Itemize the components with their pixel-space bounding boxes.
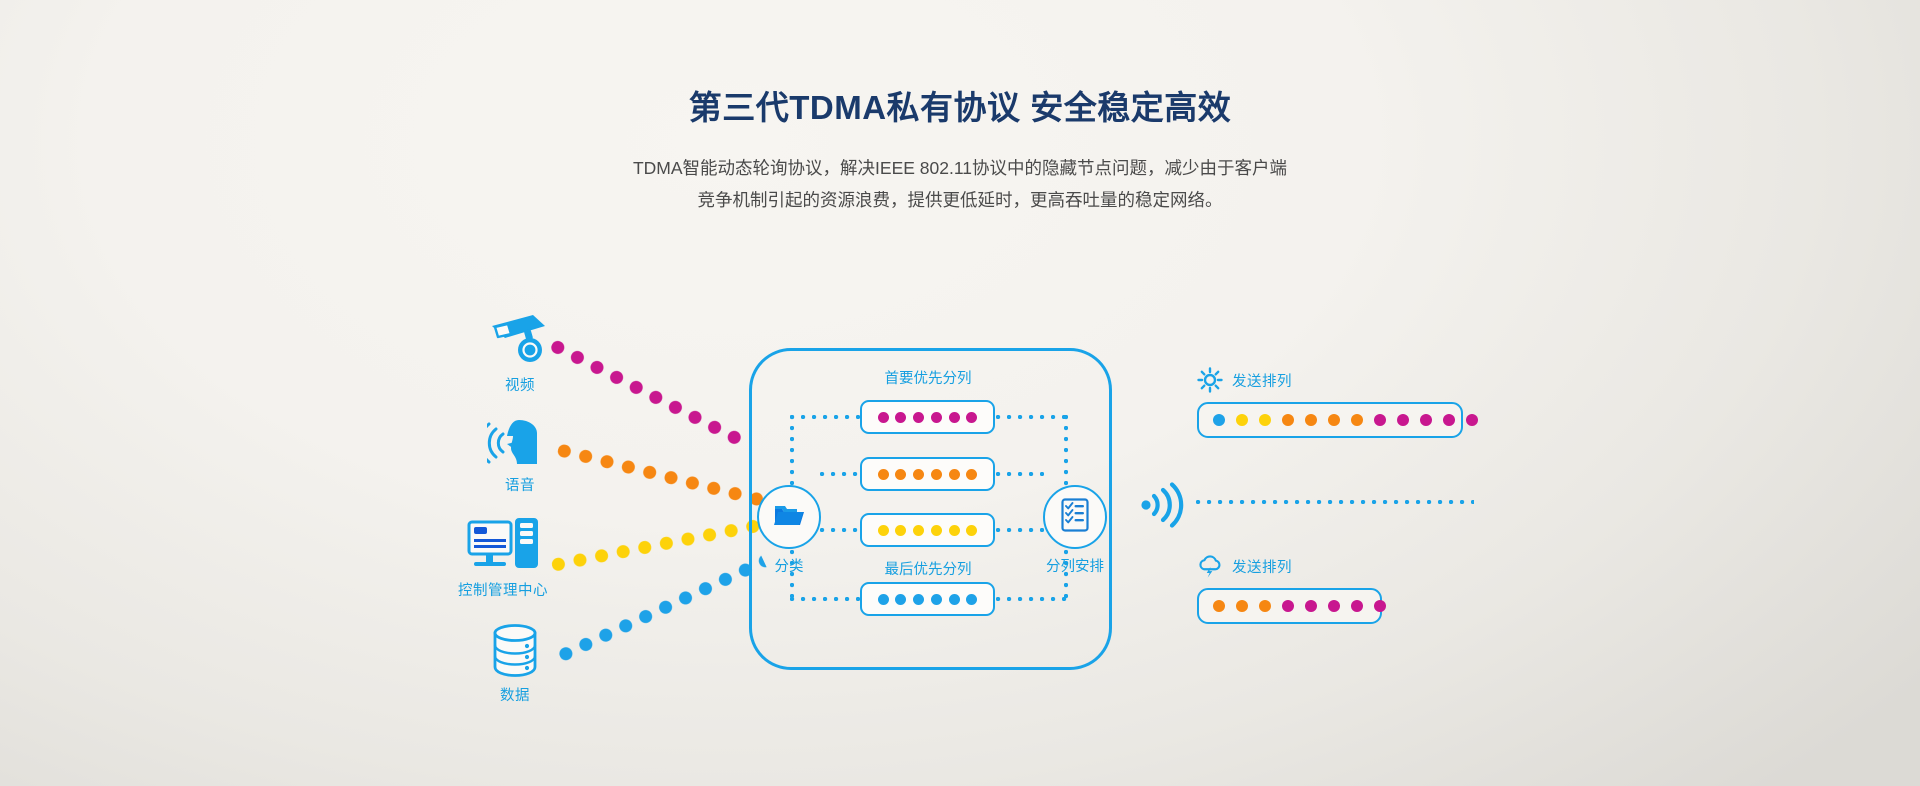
queue-dot	[895, 594, 906, 605]
core-connector-left-top	[790, 415, 860, 419]
core-connector-right-bottom	[996, 597, 1068, 601]
output-dot	[1282, 414, 1294, 426]
core-connector-left-low	[820, 528, 862, 532]
folder-icon	[773, 501, 805, 534]
queue-dot	[949, 525, 960, 536]
queue-dot	[913, 525, 924, 536]
queue-dot	[931, 412, 942, 423]
output-dot	[1259, 600, 1271, 612]
queue-caption-bottom: 最后优先分列	[828, 558, 1028, 579]
queue-dot	[931, 469, 942, 480]
output-dot	[1305, 600, 1317, 612]
queue-dot	[895, 469, 906, 480]
source-video-label: 视频	[445, 374, 595, 395]
database-cylinder-icon	[440, 620, 590, 678]
queue-dot	[913, 412, 924, 423]
output-dot	[1374, 600, 1386, 612]
subtitle-line-1: TDMA智能动态轮询协议，解决IEEE 802.11协议中的隐藏节点问题，减少由…	[0, 152, 1920, 184]
queue-dot	[878, 469, 889, 480]
queue-dot	[966, 594, 977, 605]
core-connector-right-top	[996, 415, 1068, 419]
queue-dot	[966, 469, 977, 480]
source-voice: 语音	[445, 410, 595, 495]
output-dot	[1213, 414, 1225, 426]
wifi-broadcast-icon	[1140, 482, 1186, 528]
output-dot	[1374, 414, 1386, 426]
queue-dot	[895, 525, 906, 536]
output-dot	[1397, 414, 1409, 426]
queue-dot	[878, 525, 889, 536]
classify-label: 分类	[724, 555, 854, 576]
output-dot	[1282, 600, 1294, 612]
voice-speaking-head-icon	[445, 410, 595, 468]
output-dot	[1328, 414, 1340, 426]
subtitle-line-2: 竞争机制引起的资源浪费，提供更低延时，更高吞吐量的稳定网络。	[0, 184, 1920, 216]
output-bottom-label: 发送排列	[1232, 556, 1292, 577]
classify-node[interactable]	[757, 485, 821, 549]
control-center-monitor-icon	[428, 515, 578, 573]
output-bottom-header: 发送排列	[1197, 553, 1382, 579]
diagram-canvas: 第三代TDMA私有协议 安全稳定高效 TDMA智能动态轮询协议，解决IEEE 8…	[0, 0, 1920, 786]
priority-queue-magenta	[860, 400, 995, 434]
core-connector-right-low	[996, 528, 1044, 532]
output-dot	[1213, 600, 1225, 612]
source-data-label: 数据	[440, 684, 590, 705]
source-video: 视频	[445, 310, 595, 395]
queue-dot	[913, 594, 924, 605]
page-subtitle: TDMA智能动态轮询协议，解决IEEE 802.11协议中的隐藏节点问题，减少由…	[0, 152, 1920, 217]
source-data: 数据	[440, 620, 590, 705]
queue-dot	[949, 469, 960, 480]
checklist-clipboard-icon	[1060, 497, 1090, 538]
queue-dot	[913, 469, 924, 480]
output-group-bottom: 发送排列	[1197, 553, 1382, 624]
source-control: 控制管理中心	[428, 515, 578, 600]
queue-dot	[949, 594, 960, 605]
queue-dot	[949, 412, 960, 423]
output-top-label: 发送排列	[1232, 370, 1292, 391]
arrange-label: 分列安排	[1010, 555, 1140, 576]
queue-dot	[895, 412, 906, 423]
priority-queue-blue	[860, 582, 995, 616]
queue-dot	[931, 525, 942, 536]
queue-dot	[966, 525, 977, 536]
broadcast-dotted-line	[1196, 500, 1474, 504]
queue-dot	[878, 412, 889, 423]
output-dot	[1236, 600, 1248, 612]
output-dot	[1259, 414, 1271, 426]
output-group-top: 发送排列	[1197, 367, 1463, 438]
core-connector-left-mid	[820, 472, 862, 476]
output-dot	[1443, 414, 1455, 426]
page-title: 第三代TDMA私有协议 安全稳定高效	[0, 88, 1920, 128]
priority-queue-orange	[860, 457, 995, 491]
sun-icon	[1197, 367, 1223, 393]
priority-queue-yellow	[860, 513, 995, 547]
output-bottom-queue	[1197, 588, 1382, 624]
source-control-label: 控制管理中心	[428, 579, 578, 600]
output-dot	[1305, 414, 1317, 426]
output-dot	[1420, 414, 1432, 426]
core-connector-left-bottom	[790, 597, 860, 601]
output-dot	[1328, 600, 1340, 612]
output-top-header: 发送排列	[1197, 367, 1463, 393]
cctv-camera-icon	[445, 310, 595, 368]
queue-dot	[931, 594, 942, 605]
queue-dot	[966, 412, 977, 423]
output-dot	[1466, 414, 1478, 426]
output-dot	[1351, 600, 1363, 612]
output-dot	[1236, 414, 1248, 426]
arrange-node[interactable]	[1043, 485, 1107, 549]
queue-caption-top: 首要优先分列	[828, 367, 1028, 388]
output-dot	[1351, 414, 1363, 426]
header: 第三代TDMA私有协议 安全稳定高效 TDMA智能动态轮询协议，解决IEEE 8…	[0, 88, 1920, 216]
output-top-queue	[1197, 402, 1463, 438]
source-voice-label: 语音	[445, 474, 595, 495]
storm-cloud-icon	[1197, 553, 1223, 579]
core-connector-right-mid	[996, 472, 1044, 476]
queue-dot	[878, 594, 889, 605]
